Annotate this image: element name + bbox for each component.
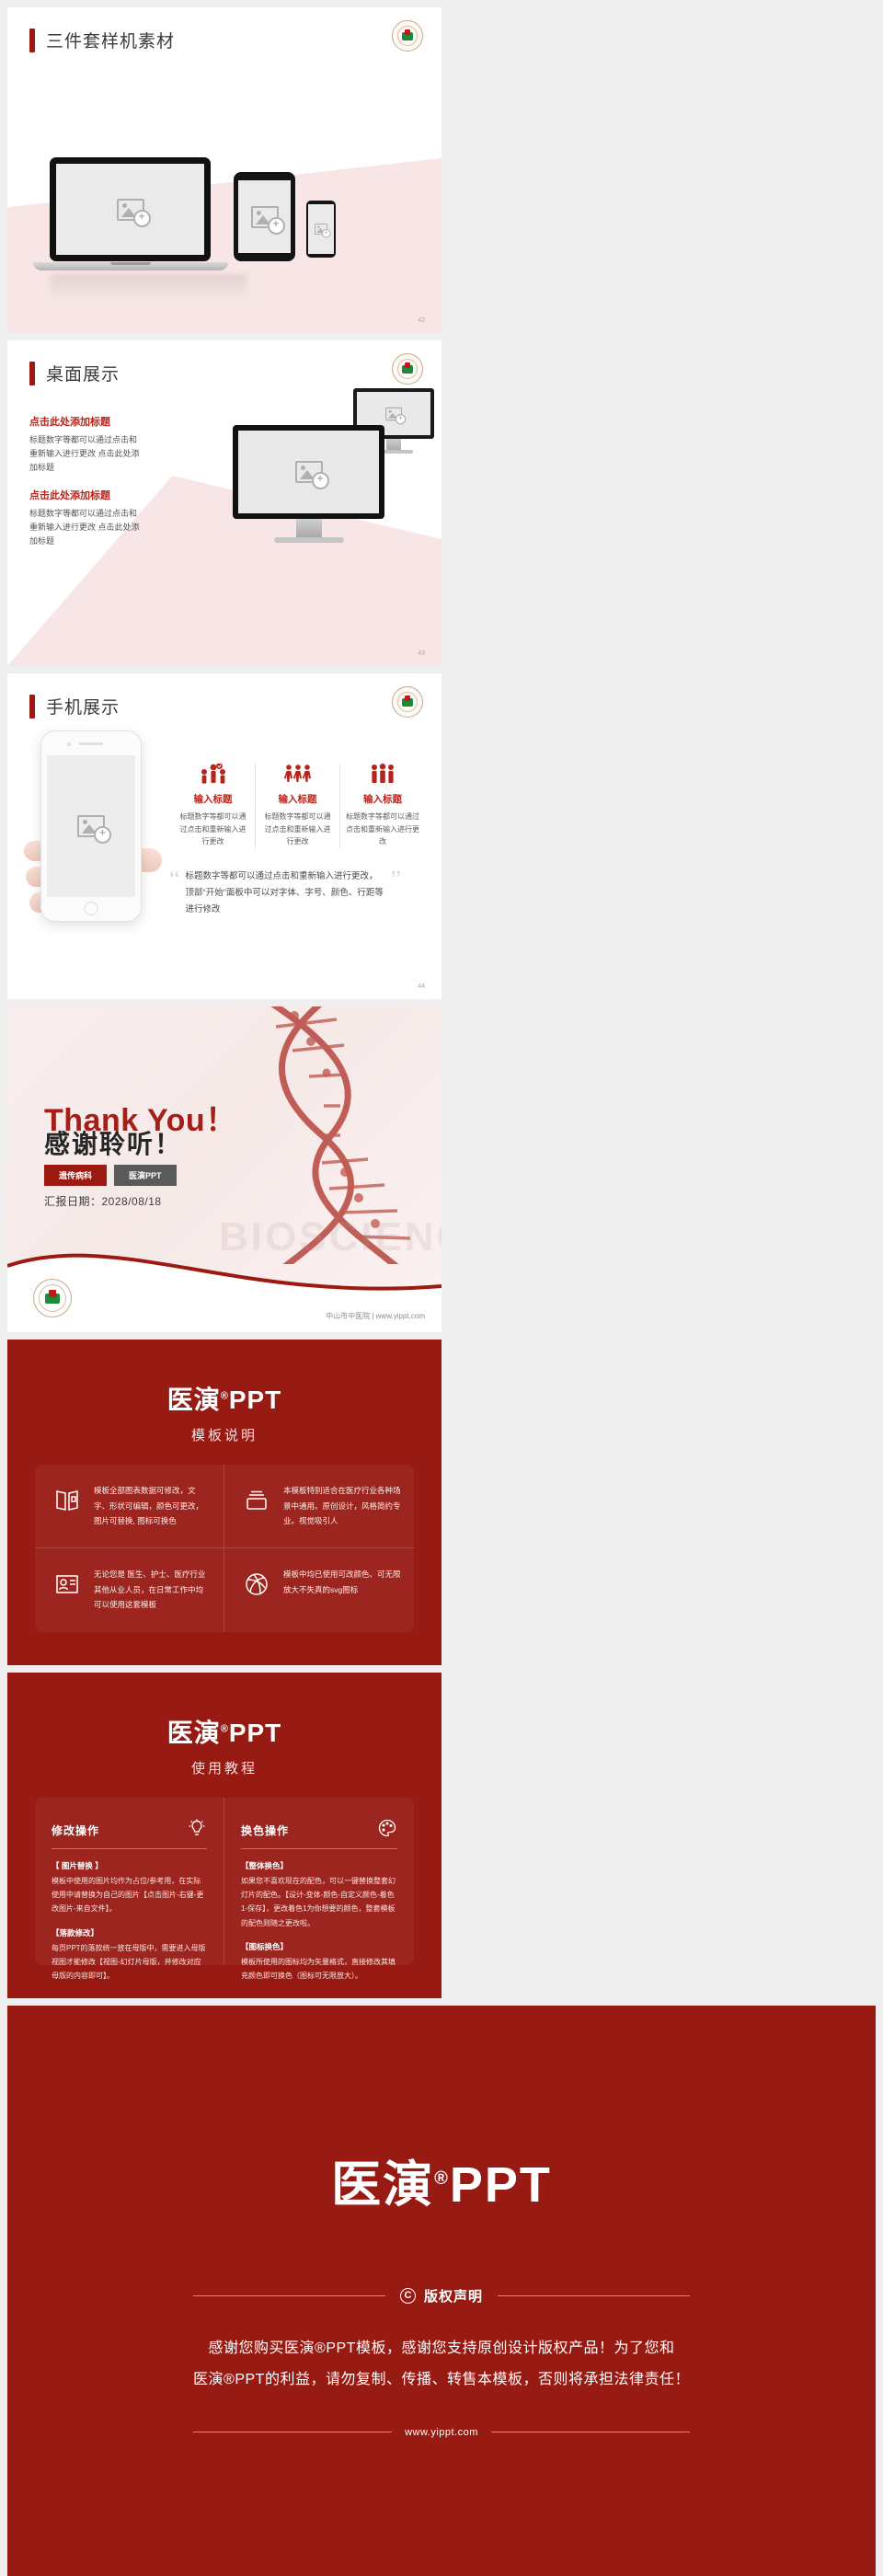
block-heading: 点击此处添加标题	[29, 488, 144, 502]
image-placeholder-icon	[385, 407, 402, 420]
hospital-logo-icon	[392, 20, 423, 52]
slide-thank-you[interactable]: BIOSCIENCE Thank You！ 感谢聆听！ 遗传病科 医演PPT 汇…	[7, 1006, 441, 1332]
howto-heading-row: 换色操作	[241, 1818, 397, 1849]
image-placeholder-icon	[295, 461, 323, 483]
column-heading: 输入标题	[346, 792, 419, 806]
registered-mark: ®	[434, 2168, 450, 2189]
info-cell[interactable]: 模板中均已使用可改颜色、可无限放大不失真的svg图标	[224, 1548, 414, 1632]
brand-block: 医演®PPT 使用教程	[7, 1673, 441, 1777]
howto-block: 【整体换色】 如果您不喜欢现在的配色，可以一键替换整套幻灯片的配色。【设计-变体…	[241, 1860, 397, 1930]
block-body: 标题数字等都可以通过点击和重新输入进行更改 点击此处添加标题	[29, 507, 144, 548]
howto-block-body: 模板中使用的图片均作为占位/参考用，在实际使用中请替换为自己的图片【点击图片-右…	[52, 1874, 207, 1916]
website-url[interactable]: www.yippt.com	[405, 2427, 478, 2438]
hand-holding-phone-mockup[interactable]	[28, 730, 156, 942]
howto-block: 【落款修改】 每页PPT的落款统一放在母版中，需要进入母版视图才能修改【视图-幻…	[52, 1927, 207, 1984]
howto-block: 【 图片替换 】 模板中使用的图片均作为占位/参考用，在实际使用中请替换为自己的…	[52, 1860, 207, 1916]
info-cell[interactable]: 模板全部图表数据可修改，文字、形状可编辑，颜色可更改，图片可替换, 图标可换色	[35, 1465, 224, 1548]
laptop-mockup[interactable]	[50, 157, 228, 270]
copyright-line-1: 感谢您购买医演®PPT模板，感谢您支持原创设计版权产品！为了您和	[147, 2333, 736, 2364]
howto-block-label: 【落款修改】	[52, 1927, 207, 1938]
howto-block: 【图标换色】 模板所使用的图标均为矢量格式，直接修改其填充颜色即可换色（图标可无…	[241, 1941, 397, 1983]
brand-logo: 医演®PPT	[7, 1713, 441, 1750]
brand-logo-large: 医演®PPT	[331, 2144, 552, 2216]
registered-mark: ®	[221, 1391, 229, 1402]
howto-half-edit[interactable]: 修改操作 【 图片替换 】 模板中使用的图片均作为占位/参考用，在实际使用中请替…	[35, 1798, 224, 1965]
info-panel: 模板全部图表数据可修改，文字、形状可编辑，颜色可更改，图片可替换, 图标可换色 …	[35, 1465, 414, 1632]
device-reflection	[50, 274, 247, 300]
brand-block: 医演®PPT 模板说明	[7, 1340, 441, 1444]
slide-copyright[interactable]: 医演®PPT C 版权声明 感谢您购买医演®PPT模板，感谢您支持原创设计版权产…	[7, 2006, 876, 2576]
brand-name: 医演	[167, 1719, 221, 1747]
text-block: 点击此处添加标题 标题数字等都可以通过点击和重新输入进行更改 点击此处添加标题	[29, 488, 144, 548]
report-date: 汇报日期：2028/08/18	[44, 1193, 162, 1209]
registered-mark: ®	[221, 1724, 229, 1735]
copyright-heading-row: C 版权声明	[193, 2286, 690, 2306]
hospital-logo-icon	[33, 1279, 72, 1317]
palette-icon	[377, 1818, 397, 1843]
slide-mockup-devices[interactable]: 三件套样机素材 42	[7, 7, 441, 333]
book-open-icon	[52, 1483, 83, 1538]
block-heading: 点击此处添加标题	[29, 414, 144, 429]
info-cell[interactable]: 本模板特别适合在医疗行业各种场景中通用。原创设计，风格简约专业。视觉吸引人	[224, 1465, 414, 1548]
copyright-icon: C	[400, 2288, 416, 2304]
column-heading: 输入标题	[261, 792, 334, 806]
tag-row: 遗传病科 医演PPT	[44, 1165, 177, 1186]
brand-subtitle: 模板说明	[7, 1425, 441, 1444]
brand-name: 医演	[331, 2157, 434, 2213]
image-placeholder-icon	[117, 199, 144, 221]
howto-block-body: 模板所使用的图标均为矢量格式，直接修改其填充颜色即可换色（图标可无限放大）。	[241, 1955, 397, 1983]
page-title: 三件套样机素材	[46, 28, 175, 52]
people-check-icon	[177, 764, 249, 792]
tag-brand[interactable]: 医演PPT	[114, 1165, 177, 1186]
info-text: 无论您是 医生、护士、医疗行业其他从业人员，在日常工作中均可以使用这套模板	[94, 1567, 211, 1623]
feature-column[interactable]: 输入标题 标题数字等都可以通过点击和重新输入进行更改	[171, 764, 256, 848]
column-body: 标题数字等都可以通过点击和重新输入进行更改	[177, 811, 249, 848]
copyright-url-row: www.yippt.com	[193, 2427, 690, 2438]
slide-footer: 中山市中医院 | www.yippt.com	[326, 1311, 425, 1321]
info-text: 模板中均已使用可改颜色、可无限放大不失真的svg图标	[283, 1567, 401, 1623]
phone-mockup[interactable]	[306, 201, 336, 258]
brand-suffix: PPT	[229, 1386, 281, 1414]
slide-template-info[interactable]: 医演®PPT 模板说明 模板全部图表数据可修改，文字、形状可编辑，颜色可更改，图…	[7, 1340, 441, 1665]
howto-block-body: 每页PPT的落款统一放在母版中，需要进入母版视图才能修改【视图-幻灯片母版，并修…	[52, 1941, 207, 1984]
feature-column[interactable]: 输入标题 标题数字等都可以通过点击和重新输入进行更改	[256, 764, 340, 848]
image-placeholder-icon	[77, 815, 105, 837]
dribbble-ball-icon	[241, 1567, 272, 1623]
slide-grid: 三件套样机素材 42 桌面展示	[0, 0, 883, 2576]
copyright-heading: 版权声明	[424, 2286, 483, 2306]
howto-block-label: 【整体换色】	[241, 1860, 397, 1871]
card-stack-icon	[241, 1483, 272, 1538]
info-cell[interactable]: 无论您是 医生、护士、医疗行业其他从业人员，在日常工作中均可以使用这套模板	[35, 1548, 224, 1632]
info-text: 模板全部图表数据可修改，文字、形状可编辑，颜色可更改，图片可替换, 图标可换色	[94, 1483, 211, 1538]
lightbulb-icon	[187, 1818, 207, 1843]
divider-line-right	[491, 2432, 690, 2432]
page-number: 44	[418, 983, 425, 990]
howto-panel: 修改操作 【 图片替换 】 模板中使用的图片均作为占位/参考用，在实际使用中请替…	[35, 1798, 414, 1965]
page-title: 手机展示	[46, 694, 120, 719]
page-number: 42	[418, 317, 425, 324]
quote-text: 标题数字等都可以通过点击和重新输入进行更改，顶部“开始”面板中可以对字体、字号、…	[186, 868, 385, 918]
people-group-icon	[261, 764, 334, 792]
slide-mobile-display[interactable]: 手机展示	[7, 673, 441, 999]
slide-header: 三件套样机素材	[29, 28, 175, 52]
feature-column[interactable]: 输入标题 标题数字等都可以通过点击和重新输入进行更改	[340, 764, 425, 848]
howto-block-label: 【图标换色】	[241, 1941, 397, 1952]
title-accent-bar	[29, 29, 35, 52]
id-card-icon	[52, 1567, 83, 1623]
column-heading: 输入标题	[177, 792, 249, 806]
quote-block: “ 标题数字等都可以通过点击和重新输入进行更改，顶部“开始”面板中可以对字体、字…	[169, 868, 401, 918]
howto-heading: 修改操作	[52, 1823, 179, 1838]
page-title: 桌面展示	[46, 361, 120, 385]
howto-half-recolor[interactable]: 换色操作 【整体换色】 如果您不喜欢现在的配色，可以一键替换整套幻灯片的配色。【…	[224, 1798, 414, 1965]
block-body: 标题数字等都可以通过点击和重新输入进行更改 点击此处添加标题	[29, 433, 144, 475]
hospital-logo-icon	[392, 353, 423, 385]
divider-line-right	[498, 2295, 690, 2296]
thanks-title-cn: 感谢聆听！	[44, 1124, 182, 1161]
divider-line-left	[193, 2432, 392, 2432]
text-block: 点击此处添加标题 标题数字等都可以通过点击和重新输入进行更改 点击此处添加标题	[29, 414, 144, 475]
image-placeholder-icon	[251, 206, 279, 228]
brand-suffix: PPT	[229, 1719, 281, 1747]
column-body: 标题数字等都可以通过点击和重新输入进行更改	[346, 811, 419, 848]
quote-close-icon: ”	[390, 868, 401, 918]
monitor-large-mockup[interactable]	[233, 425, 384, 543]
image-placeholder-icon	[315, 224, 327, 235]
people-team-icon	[346, 764, 419, 792]
brand-logo: 医演®PPT	[7, 1380, 441, 1417]
hospital-logo-icon	[392, 686, 423, 718]
slide-desktop-display[interactable]: 桌面展示 点击此处添加标题 标题数字等都可以通过点击和重新输入进行更改 点击此处…	[7, 340, 441, 666]
slide-header: 桌面展示	[29, 361, 120, 385]
feature-columns: 输入标题 标题数字等都可以通过点击和重新输入进行更改 输入标题 标题数字等都可以…	[171, 764, 425, 848]
copyright-line-2: 医演®PPT的利益，请勿复制、传播、转售本模板，否则将承担法律责任！	[147, 2364, 736, 2396]
quote-open-icon: “	[169, 868, 180, 918]
brand-subtitle: 使用教程	[7, 1758, 441, 1777]
tag-department[interactable]: 遗传病科	[44, 1165, 107, 1186]
page-number: 43	[418, 650, 425, 657]
copyright-body: 感谢您购买医演®PPT模板，感谢您支持原创设计版权产品！为了您和 医演®PPT的…	[147, 2333, 736, 2395]
column-body: 标题数字等都可以通过点击和重新输入进行更改	[261, 811, 334, 848]
howto-block-body: 如果您不喜欢现在的配色，可以一键替换整套幻灯片的配色。【设计-变体-颜色-自定义…	[241, 1874, 397, 1930]
divider-line-left	[193, 2295, 385, 2296]
howto-heading-row: 修改操作	[52, 1818, 207, 1849]
howto-heading: 换色操作	[241, 1823, 370, 1838]
info-text: 本模板特别适合在医疗行业各种场景中通用。原创设计，风格简约专业。视觉吸引人	[283, 1483, 401, 1538]
title-accent-bar	[29, 695, 35, 719]
howto-block-label: 【 图片替换 】	[52, 1860, 207, 1871]
brand-name: 医演	[167, 1386, 221, 1414]
brand-suffix: PPT	[450, 2157, 552, 2213]
slide-template-howto[interactable]: 医演®PPT 使用教程 修改操作	[7, 1673, 441, 1998]
slide-header: 手机展示	[29, 694, 120, 719]
title-accent-bar	[29, 362, 35, 385]
tablet-mockup[interactable]	[234, 172, 295, 261]
